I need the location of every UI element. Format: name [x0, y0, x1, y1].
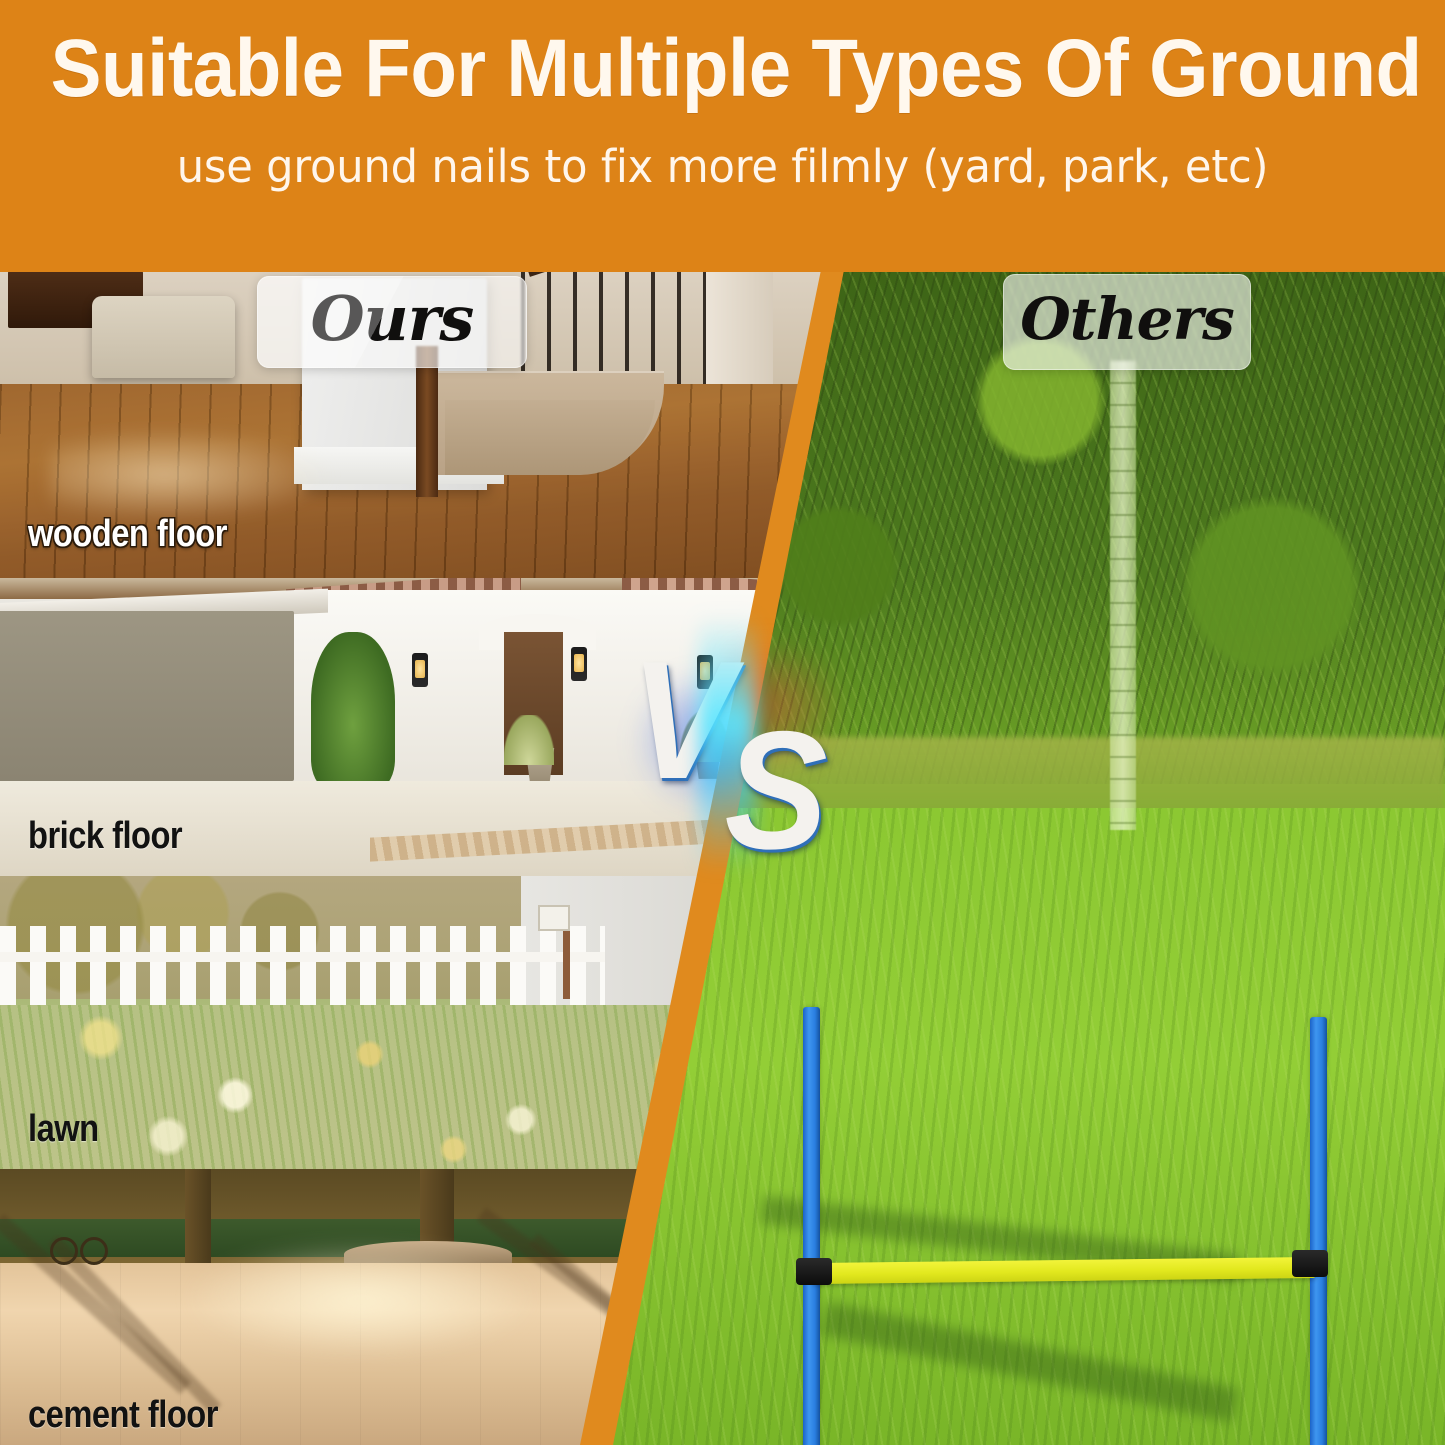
- picket-fence-rail: [0, 952, 605, 962]
- product-clip-right: [1292, 1250, 1328, 1277]
- wall-lantern-2: [571, 647, 587, 681]
- bicycle-wheel-rear: [50, 1237, 78, 1265]
- photo-label-lawn: lawn: [28, 1108, 99, 1151]
- entry-shrub: [311, 632, 395, 787]
- floor-light-reflection: [50, 428, 336, 522]
- product-pole-right: [1310, 1017, 1327, 1445]
- vs-letter-s: S: [724, 706, 827, 874]
- photo-label-brick-floor: brick floor: [28, 815, 182, 858]
- picket-fence: [0, 926, 605, 1005]
- page-subtitle: use ground nails to fix more filmly (yar…: [29, 140, 1416, 193]
- product-clip-left: [796, 1258, 832, 1285]
- ours-label-plate: Ours: [257, 276, 527, 368]
- header-banner: Suitable For Multiple Types Of Ground us…: [0, 0, 1445, 272]
- interior-armchair: [92, 296, 235, 377]
- garage-door: [0, 611, 294, 781]
- product-pole-left: [803, 1007, 820, 1445]
- others-label-text: Others: [1020, 290, 1234, 348]
- sun-flare: [185, 1241, 538, 1357]
- interior-column: [706, 265, 773, 390]
- photo-label-cement-floor: cement floor: [28, 1394, 218, 1437]
- poster-root: wooden floor: [0, 0, 1445, 1445]
- page-title: Suitable For Multiple Types Of Ground: [51, 26, 1395, 112]
- bicycle-wheel-front: [80, 1237, 108, 1265]
- ours-label-text: Ours: [311, 288, 474, 350]
- vs-badge: V S: [620, 628, 840, 858]
- ornamental-grass-1: [504, 715, 554, 765]
- wall-lantern-1: [412, 653, 428, 687]
- photo-label-wooden-floor: wooden floor: [28, 513, 227, 556]
- staircase-newel-post: [416, 346, 438, 496]
- others-label-plate: Others: [1003, 274, 1251, 370]
- competitor-pole: [1110, 360, 1136, 830]
- parked-bicycle: [50, 1219, 110, 1265]
- yard-sign-board: [538, 905, 570, 931]
